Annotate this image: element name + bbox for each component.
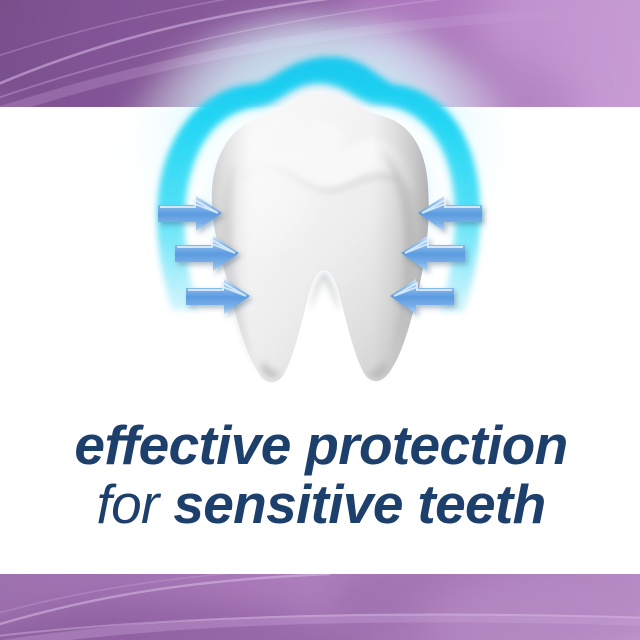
headline-line-2-bold: sensitive teeth bbox=[173, 473, 545, 535]
arrow-left-3 bbox=[186, 279, 250, 314]
arrow-left-2 bbox=[175, 236, 239, 271]
arrow-right-3 bbox=[390, 279, 454, 314]
headline-block: effective protection for sensitive teeth bbox=[0, 418, 640, 532]
tooth-graphic-group bbox=[0, 0, 640, 640]
headline-line-2: for sensitive teeth bbox=[0, 477, 640, 532]
arrow-left-1 bbox=[158, 196, 222, 231]
arrow-right-1 bbox=[418, 196, 482, 231]
bottom-purple-band bbox=[0, 574, 640, 640]
headline-line-1: effective protection bbox=[0, 418, 640, 473]
protection-arrows bbox=[0, 0, 640, 640]
advertisement-banner: effective protection for sensitive teeth bbox=[0, 0, 640, 640]
headline-line-2-light: for bbox=[96, 473, 173, 535]
arrow-right-group bbox=[390, 196, 482, 314]
arrow-left-group bbox=[158, 196, 250, 314]
arrow-right-2 bbox=[401, 236, 465, 271]
bottom-band-swooshes bbox=[0, 574, 640, 640]
